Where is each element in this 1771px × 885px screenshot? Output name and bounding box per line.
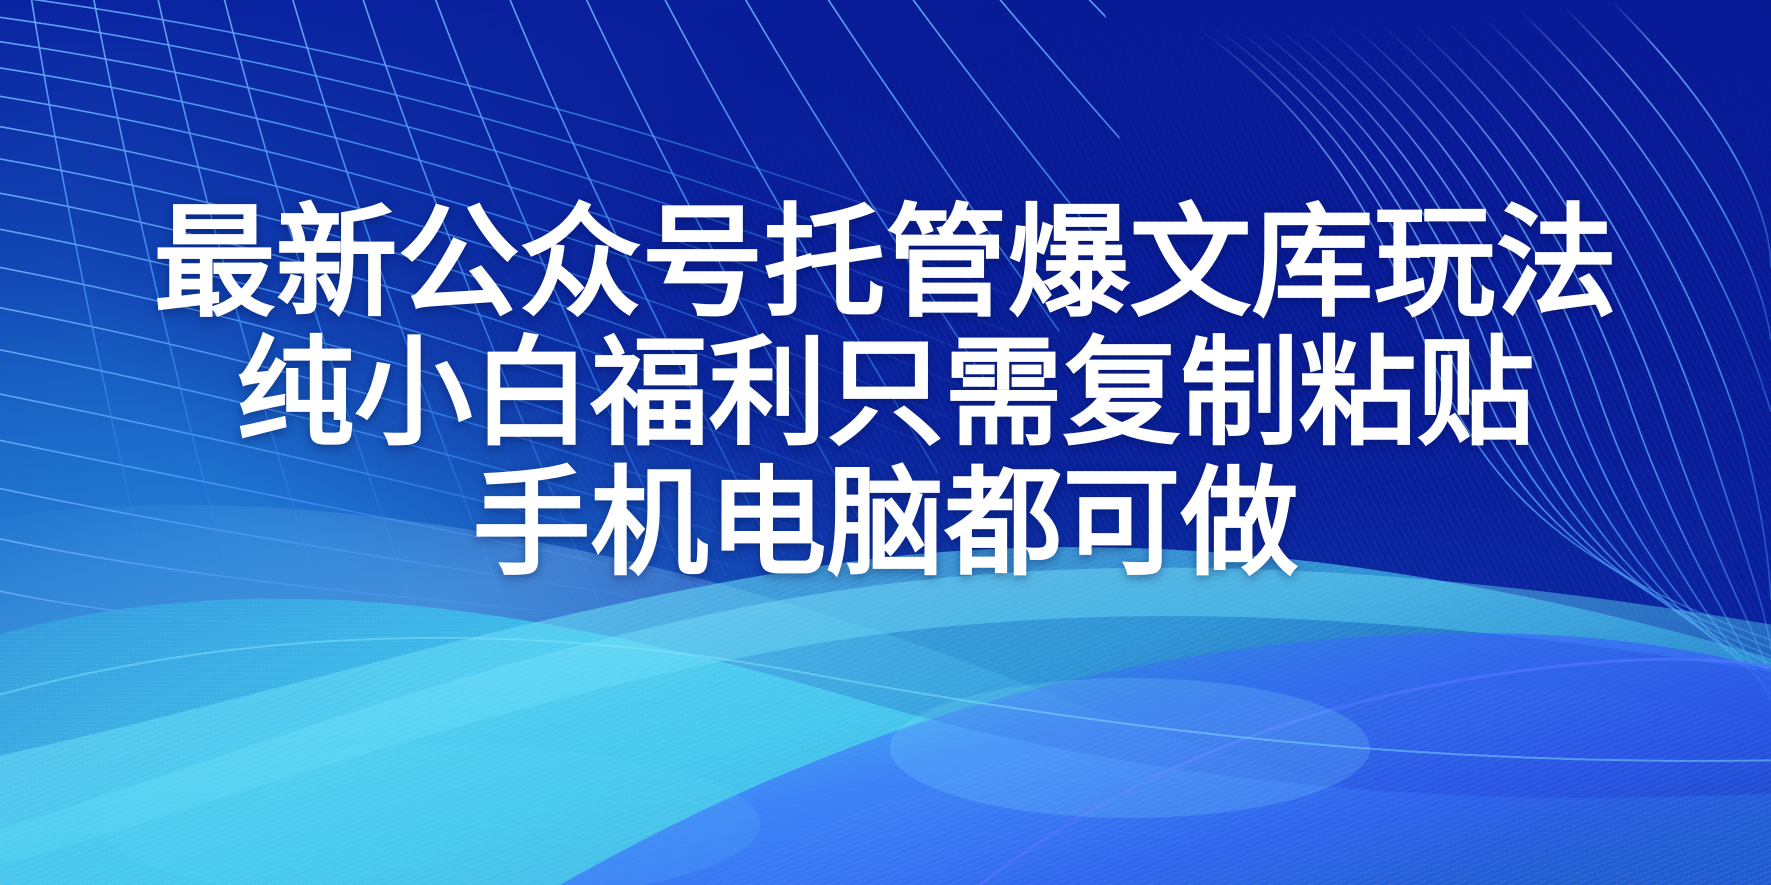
poster-headline: 最新公众号托管爆文库玩法 纯小白福利只需复制粘贴 手机电脑都可做 (0, 198, 1771, 588)
headline-line-3: 手机电脑都可做 (0, 458, 1771, 588)
headline-line-2: 纯小白福利只需复制粘贴 (0, 328, 1771, 458)
headline-line-1: 最新公众号托管爆文库玩法 (0, 198, 1771, 328)
wave-glow-hotspot (890, 678, 1370, 818)
poster-canvas: 最新公众号托管爆文库玩法 纯小白福利只需复制粘贴 手机电脑都可做 (0, 0, 1771, 885)
